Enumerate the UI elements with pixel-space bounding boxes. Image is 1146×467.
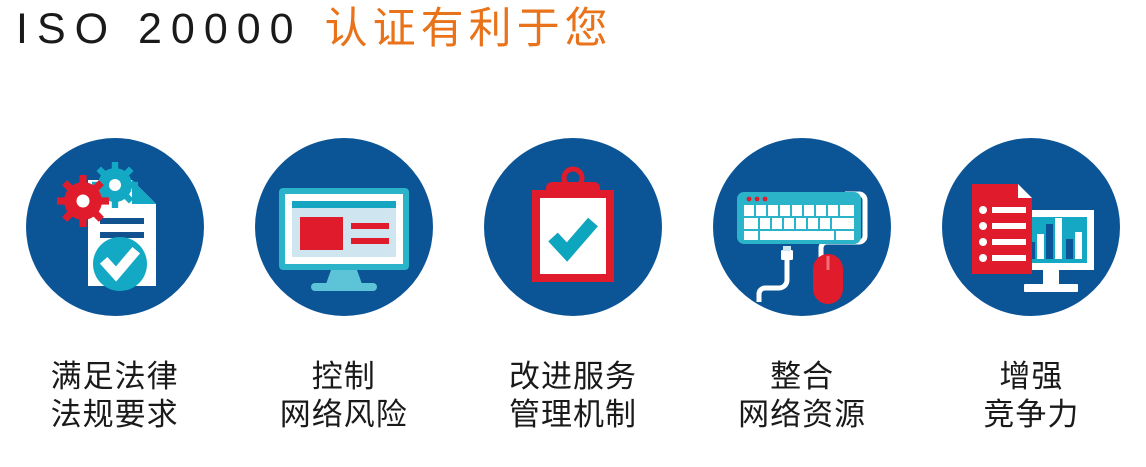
document-gears-check-icon — [26, 138, 204, 316]
benefit-card-legal-compliance[interactable]: 满足法律 法规要求 — [0, 138, 229, 434]
benefit-caption-line1: 改进服务 — [509, 359, 637, 394]
benefit-icon-circle — [713, 138, 891, 316]
benefit-card-service-management[interactable]: 改进服务 管理机制 — [458, 138, 687, 434]
benefit-caption: 增强 竞争力 — [983, 358, 1079, 434]
page-title: ISO 20000 认证有利于您 — [16, 8, 613, 51]
benefit-icon-circle — [26, 138, 204, 316]
benefit-caption: 改进服务 管理机制 — [509, 358, 637, 434]
benefit-caption-line2: 网络风险 — [280, 396, 408, 434]
benefit-icon-circle — [942, 138, 1120, 316]
benefit-caption-line1: 满足法律 — [51, 359, 179, 394]
clipboard-check-icon — [484, 138, 662, 316]
benefit-icon-circle — [255, 138, 433, 316]
benefit-card-competitiveness[interactable]: 增强 竞争力 — [917, 138, 1146, 434]
benefit-caption-line1: 整合 — [770, 359, 834, 394]
page-title-tagline: 认证有利于您 — [325, 8, 613, 51]
benefit-caption: 整合 网络资源 — [738, 358, 866, 434]
benefit-caption-line2: 法规要求 — [51, 396, 179, 434]
benefits-list: 满足法律 法规要求 — [0, 138, 1146, 434]
benefit-card-resource-integration[interactable]: 整合 网络资源 — [688, 138, 917, 434]
benefit-caption-line2: 网络资源 — [738, 396, 866, 434]
keyboard-mouse-icon — [713, 138, 891, 316]
benefit-caption-line1: 控制 — [312, 359, 376, 394]
benefit-caption: 满足法律 法规要求 — [51, 358, 179, 434]
report-monitor-chart-icon — [942, 138, 1120, 316]
page-title-standard: ISO 20000 — [16, 8, 303, 51]
benefit-icon-circle — [484, 138, 662, 316]
benefit-caption-line1: 增强 — [999, 359, 1063, 394]
benefit-card-network-risk[interactable]: 控制 网络风险 — [229, 138, 458, 434]
benefit-caption: 控制 网络风险 — [280, 358, 408, 434]
monitor-webpage-icon — [255, 138, 433, 316]
benefit-caption-line2: 管理机制 — [509, 396, 637, 434]
benefit-caption-line2: 竞争力 — [983, 396, 1079, 434]
